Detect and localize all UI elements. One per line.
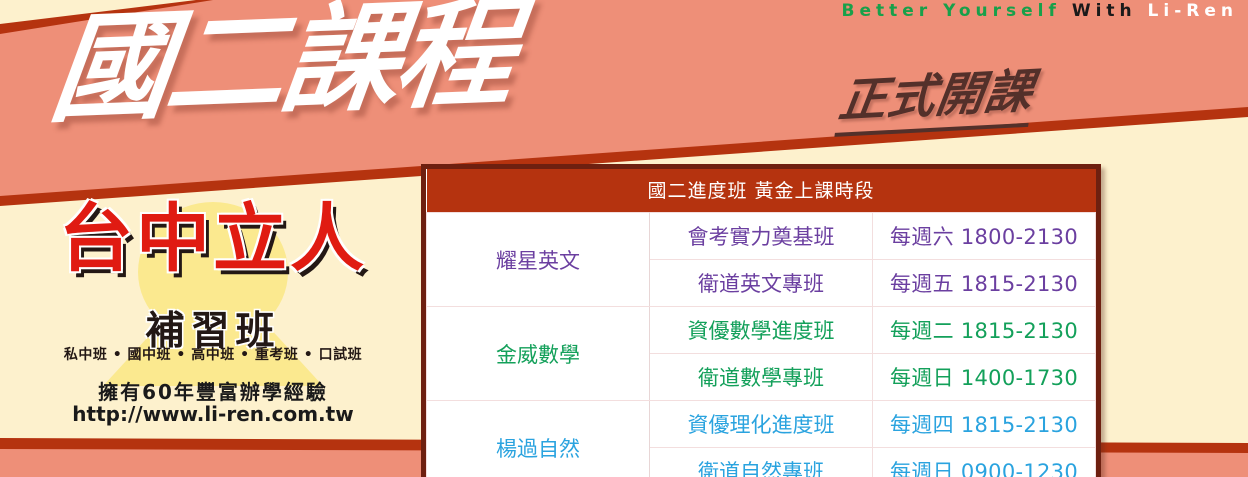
schedule-table: 國二進度班 黃金上課時段 耀星英文 會考實力奠基班 每週六 1800-2130 … — [426, 169, 1096, 477]
page-title: 國二課程 — [45, 0, 518, 132]
course-name-cell: 會考實力奠基班 — [650, 213, 873, 260]
table-row: 楊過自然 資優理化進度班 每週四 1815-2130 — [427, 401, 1096, 448]
subject-cell: 耀星英文 — [427, 213, 650, 307]
course-name-cell: 衛道自然專班 — [650, 448, 873, 477]
website-url[interactable]: http://www.li-ren.com.tw — [18, 402, 408, 426]
course-name-cell: 衛道英文專班 — [650, 260, 873, 307]
table-row: 耀星英文 會考實力奠基班 每週六 1800-2130 — [427, 213, 1096, 260]
course-time-cell: 每週日 1400-1730 — [873, 354, 1096, 401]
subject-cell: 金威數學 — [427, 307, 650, 401]
tagline-word-yourself: Yourself — [943, 1, 1061, 21]
tagline-word-with: With — [1072, 1, 1137, 21]
tagline: Better Yourself With Li-Ren — [640, 1, 1238, 21]
tagline-word-liren: Li-Ren — [1148, 1, 1238, 21]
course-name-cell: 資優數學進度班 — [650, 307, 873, 354]
banner-root: Better Yourself With Li-Ren 國二課程 正式開課 台中… — [0, 0, 1248, 477]
subject-cell: 楊過自然 — [427, 401, 650, 477]
course-time-cell: 每週四 1815-2130 — [873, 401, 1096, 448]
tagline-word-better: Better — [842, 1, 933, 21]
brand-name: 台中立人 — [18, 202, 408, 276]
schedule-table-title: 國二進度班 黃金上課時段 — [427, 169, 1096, 213]
course-time-cell: 每週六 1800-2130 — [873, 213, 1096, 260]
schedule-table-body: 耀星英文 會考實力奠基班 每週六 1800-2130 衛道英文專班 每週五 18… — [427, 213, 1096, 477]
course-time-cell: 每週日 0900-1230 — [873, 448, 1096, 477]
course-name-cell: 資優理化進度班 — [650, 401, 873, 448]
page-subtitle: 正式開課 — [834, 52, 1038, 137]
course-time-cell: 每週二 1815-2130 — [873, 307, 1096, 354]
table-row: 金威數學 資優數學進度班 每週二 1815-2130 — [427, 307, 1096, 354]
course-time-cell: 每週五 1815-2130 — [873, 260, 1096, 307]
course-type-list: 私中班 • 國中班 • 高中班 • 重考班 • 口試班 — [18, 344, 408, 364]
schedule-table-container: 國二進度班 黃金上課時段 耀星英文 會考實力奠基班 每週六 1800-2130 … — [421, 164, 1101, 477]
table-header-row: 國二進度班 黃金上課時段 — [427, 169, 1096, 213]
course-name-cell: 衛道數學專班 — [650, 354, 873, 401]
experience-text: 擁有60年豐富辦學經驗 — [18, 376, 408, 405]
logo: 台中立人 補習班 私中班 • 國中班 • 高中班 • 重考班 • 口試班 擁有6… — [18, 196, 408, 426]
